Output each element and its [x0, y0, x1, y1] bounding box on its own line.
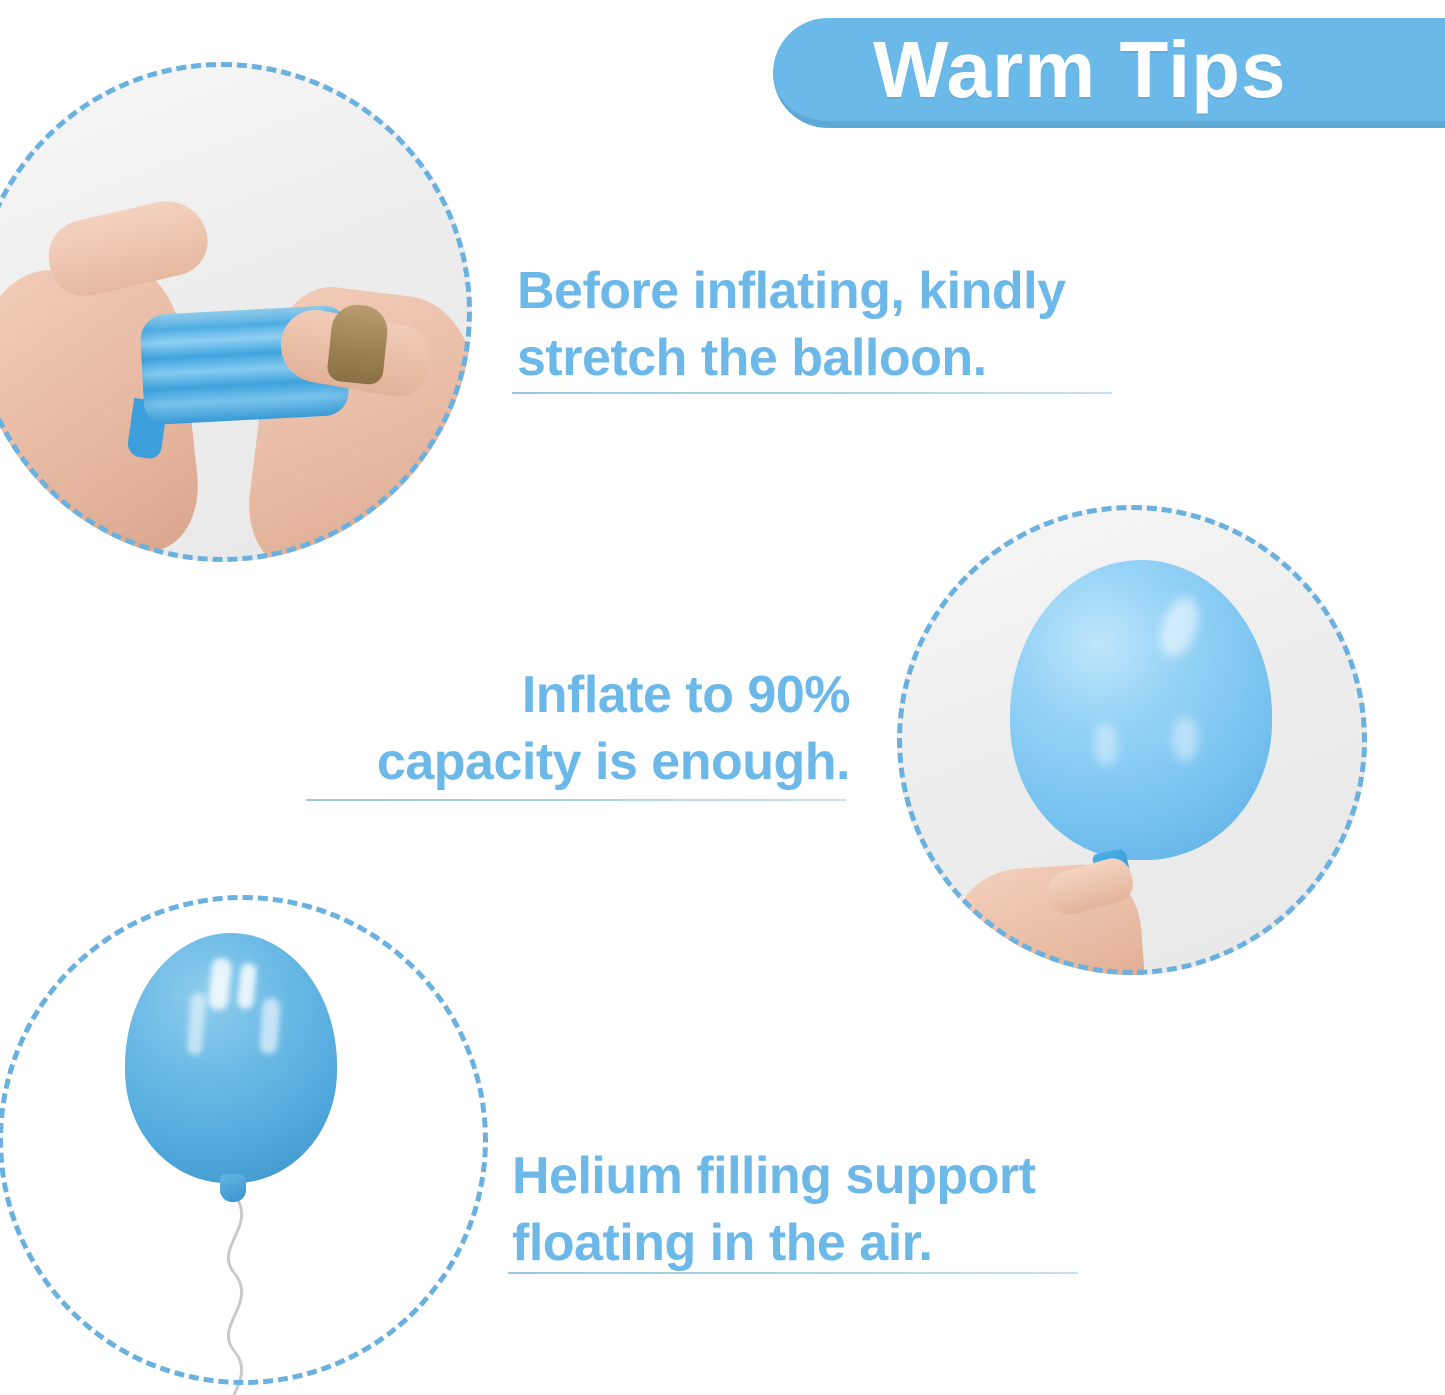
balloon-knot — [220, 1174, 246, 1202]
photo-stretch-balloon — [0, 62, 472, 562]
warm-tips-infographic: Warm Tips Before inflating, kindly stret… — [0, 0, 1445, 1395]
tip-text-helium-floating: Helium filling support floating in the a… — [512, 1143, 1035, 1276]
tip-3-underline — [508, 1272, 1078, 1274]
tip-1-line-1: Before inflating, kindly — [517, 258, 1066, 325]
tip-text-stretch-balloon: Before inflating, kindly stretch the bal… — [517, 258, 1066, 391]
tip-1-underline — [512, 392, 1112, 394]
tip-3-line-2: floating in the air. — [512, 1210, 1035, 1277]
balloon-highlight — [237, 962, 258, 1009]
curly-ribbon-icon — [184, 1195, 294, 1395]
banner-title: Warm Tips — [873, 30, 1287, 110]
balloon-highlight — [1094, 722, 1118, 766]
tip-2-line-2: capacity is enough. — [310, 729, 850, 796]
tip-1-line-2: stretch the balloon. — [517, 325, 1066, 392]
tip-2-line-1: Inflate to 90% — [310, 662, 850, 729]
cork-finger-protector — [326, 302, 390, 385]
tip-text-inflate-capacity: Inflate to 90% capacity is enough. — [310, 662, 850, 795]
tip-2-underline — [306, 799, 846, 801]
warm-tips-banner: Warm Tips — [773, 18, 1445, 128]
balloon-highlight — [1172, 716, 1198, 762]
photo-circle-stretch-balloon — [0, 62, 472, 562]
inflated-balloon — [1010, 560, 1272, 860]
photo-circle-inflated-balloon — [897, 505, 1367, 975]
balloon-highlight — [259, 997, 281, 1054]
balloon-highlight — [207, 957, 232, 1011]
floating-balloon — [125, 933, 337, 1183]
photo-circle-floating-balloon — [0, 895, 488, 1385]
photo-inflated-balloon — [897, 505, 1367, 975]
balloon-highlight — [186, 993, 205, 1056]
balloon-highlight — [1153, 592, 1204, 661]
tip-3-line-1: Helium filling support — [512, 1143, 1035, 1210]
